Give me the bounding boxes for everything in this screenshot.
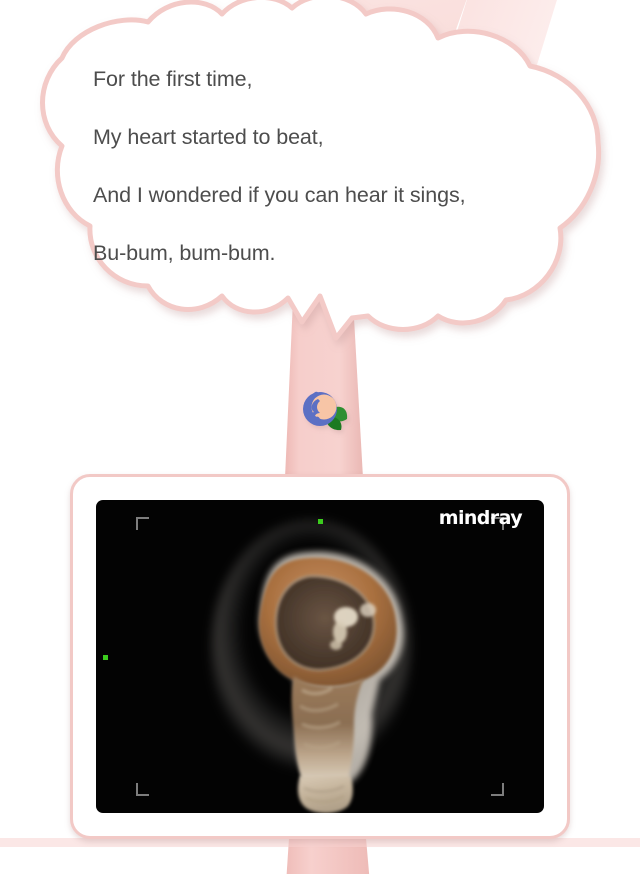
fetus-leaf-logo xyxy=(298,386,350,434)
quote-line-1: For the first time, xyxy=(93,50,593,108)
poster-canvas: For the first time, My heart started to … xyxy=(0,0,640,874)
fetus-circle-icon xyxy=(303,392,337,426)
mindray-brand-logo: mindray xyxy=(439,509,522,528)
corner-bracket-bottom-left xyxy=(136,783,149,796)
quote-line-2: My heart started to beat, xyxy=(93,108,593,166)
indicator-dot-left xyxy=(103,655,108,660)
speech-bubble-text: For the first time, My heart started to … xyxy=(93,50,593,282)
ribbon-bottom-stem xyxy=(0,838,640,874)
corner-bracket-bottom-right xyxy=(491,783,504,796)
indicator-dot-top xyxy=(318,519,323,524)
ultrasound-screen[interactable]: mindray xyxy=(96,500,544,813)
quote-line-3: And I wondered if you can hear it sings, xyxy=(93,166,593,224)
ultrasound-device[interactable]: mindray xyxy=(70,474,570,839)
quote-line-4: Bu-bum, bum-bum. xyxy=(93,224,593,282)
corner-bracket-top-left xyxy=(136,517,149,530)
fetal-ultrasound-image xyxy=(96,500,544,813)
